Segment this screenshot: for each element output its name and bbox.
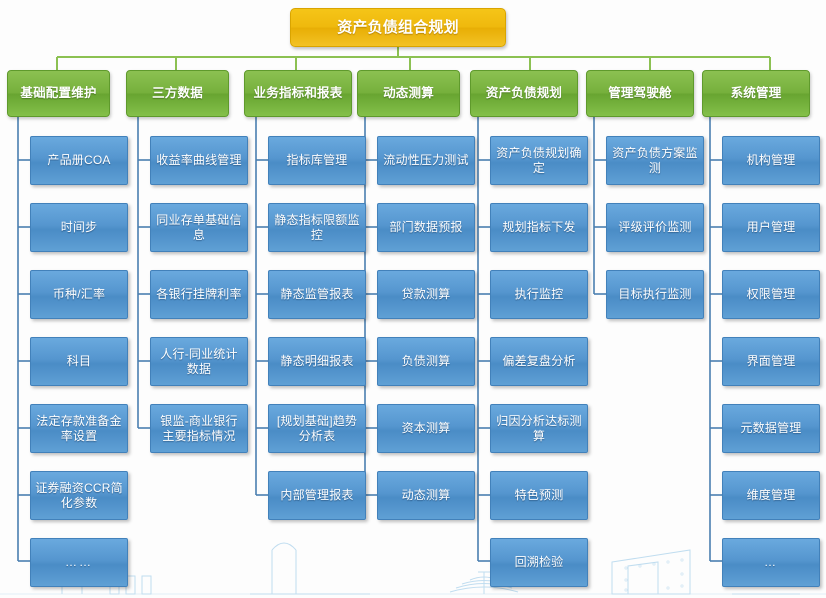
leaf-label: 币种/汇率 — [53, 287, 105, 301]
leaf-c2-r2[interactable]: 同业存单基础信息 — [150, 203, 248, 252]
leaf-c3-r2[interactable]: 静态指标限额监控 — [268, 203, 366, 252]
leaf-label: 法定存款准备金率设置 — [35, 414, 123, 442]
leaf-c5-r4[interactable]: 偏差复盘分析 — [490, 337, 588, 386]
leaf-label: 回溯检验 — [515, 555, 564, 569]
leaf-label: 各银行挂牌利率 — [156, 287, 241, 301]
leaf-c4-r5[interactable]: 资本测算 — [377, 404, 475, 453]
leaf-c5-r1[interactable]: 资产负债规划确定 — [490, 136, 588, 185]
leaf-label: 目标执行监测 — [618, 287, 691, 301]
leaf-label: 静态明细报表 — [280, 354, 353, 368]
leaf-c3-r3[interactable]: 静态监管报表 — [268, 270, 366, 319]
category-header-label: 基础配置维护 — [20, 86, 96, 101]
leaf-c5-r6[interactable]: 特色预测 — [490, 471, 588, 520]
leaf-label: 评级评价监测 — [618, 220, 691, 234]
leaf-c7-r5[interactable]: 元数据管理 — [722, 404, 820, 453]
leaf-label: 用户管理 — [747, 220, 796, 234]
leaf-c2-r5[interactable]: 银监-商业银行主要指标情况 — [150, 404, 248, 453]
leaf-label: 静态指标限额监控 — [273, 213, 361, 241]
leaf-label: 静态监管报表 — [280, 287, 353, 301]
leaf-label: 规划指标下发 — [502, 220, 575, 234]
leaf-label: 资产负债规划确定 — [495, 146, 583, 174]
category-header-7[interactable]: 系统管理 — [702, 70, 810, 117]
leaf-label: 指标库管理 — [286, 153, 347, 167]
leaf-label: 流动性压力测试 — [383, 153, 468, 167]
leaf-c3-r4[interactable]: 静态明细报表 — [268, 337, 366, 386]
category-header-label: 业务指标和报表 — [254, 86, 343, 101]
leaf-c1-r2[interactable]: 时间步 — [30, 203, 128, 252]
leaf-label: 特色预测 — [515, 488, 564, 502]
leaf-label: 银监-商业银行主要指标情况 — [155, 414, 243, 442]
leaf-label: 人行-同业统计数据 — [155, 347, 243, 375]
leaf-label: 产品册COA — [47, 153, 110, 167]
leaf-c3-r6[interactable]: 内部管理报表 — [268, 471, 366, 520]
leaf-label: 同业存单基础信息 — [155, 213, 243, 241]
leaf-label: 归因分析达标测算 — [495, 414, 583, 442]
category-header-label: 系统管理 — [731, 86, 782, 101]
leaf-c6-r3[interactable]: 目标执行监测 — [606, 270, 704, 319]
leaf-c2-r3[interactable]: 各银行挂牌利率 — [150, 270, 248, 319]
root-node[interactable]: 资产负债组合规划 — [290, 8, 506, 47]
leaf-label: 内部管理报表 — [280, 488, 353, 502]
leaf-label: 资产负债方案监测 — [611, 146, 699, 174]
leaf-label: … — [764, 555, 778, 569]
leaf-c7-r7[interactable]: … — [722, 538, 820, 587]
leaf-c5-r7[interactable]: 回溯检验 — [490, 538, 588, 587]
leaf-c1-r4[interactable]: 科目 — [30, 337, 128, 386]
leaf-label: 动态测算 — [402, 488, 451, 502]
leaf-c6-r1[interactable]: 资产负债方案监测 — [606, 136, 704, 185]
leaf-c3-r1[interactable]: 指标库管理 — [268, 136, 366, 185]
leaf-c3-r5[interactable]: [规划基础]趋势分析表 — [268, 404, 366, 453]
leaf-c5-r5[interactable]: 归因分析达标测算 — [490, 404, 588, 453]
leaf-label: 偏差复盘分析 — [502, 354, 575, 368]
leaf-c5-r3[interactable]: 执行监控 — [490, 270, 588, 319]
leaf-c4-r1[interactable]: 流动性压力测试 — [377, 136, 475, 185]
leaf-label: 证券融资CCR简化参数 — [35, 481, 123, 509]
leaf-label: …… — [65, 555, 93, 569]
category-header-6[interactable]: 管理驾驶舱 — [586, 70, 694, 117]
leaf-label: 界面管理 — [747, 354, 796, 368]
leaf-label: [规划基础]趋势分析表 — [273, 414, 361, 442]
leaf-label: 元数据管理 — [740, 421, 801, 435]
leaf-c6-r2[interactable]: 评级评价监测 — [606, 203, 704, 252]
category-header-label: 资产负债规划 — [486, 86, 562, 101]
leaf-label: 收益率曲线管理 — [156, 153, 241, 167]
leaf-label: 时间步 — [61, 220, 98, 234]
leaf-label: 机构管理 — [747, 153, 796, 167]
leaf-c1-r3[interactable]: 币种/汇率 — [30, 270, 128, 319]
leaf-c1-r6[interactable]: 证券融资CCR简化参数 — [30, 471, 128, 520]
leaf-c1-r5[interactable]: 法定存款准备金率设置 — [30, 404, 128, 453]
category-header-label: 管理驾驶舱 — [608, 86, 672, 101]
root-node-label: 资产负债组合规划 — [337, 19, 459, 37]
leaf-c7-r2[interactable]: 用户管理 — [722, 203, 820, 252]
leaf-c4-r6[interactable]: 动态测算 — [377, 471, 475, 520]
leaf-label: 维度管理 — [747, 488, 796, 502]
category-header-2[interactable]: 三方数据 — [126, 70, 229, 117]
leaf-c7-r6[interactable]: 维度管理 — [722, 471, 820, 520]
leaf-label: 部门数据预报 — [389, 220, 462, 234]
category-header-5[interactable]: 资产负债规划 — [470, 70, 578, 117]
leaf-c2-r4[interactable]: 人行-同业统计数据 — [150, 337, 248, 386]
leaf-label: 执行监控 — [515, 287, 564, 301]
leaf-c7-r4[interactable]: 界面管理 — [722, 337, 820, 386]
leaf-c1-r7[interactable]: …… — [30, 538, 128, 587]
leaf-c7-r3[interactable]: 权限管理 — [722, 270, 820, 319]
leaf-c4-r2[interactable]: 部门数据预报 — [377, 203, 475, 252]
category-header-3[interactable]: 业务指标和报表 — [244, 70, 352, 117]
leaf-c4-r3[interactable]: 贷款测算 — [377, 270, 475, 319]
leaf-c7-r1[interactable]: 机构管理 — [722, 136, 820, 185]
leaf-c2-r1[interactable]: 收益率曲线管理 — [150, 136, 248, 185]
leaf-c5-r2[interactable]: 规划指标下发 — [490, 203, 588, 252]
leaf-c4-r4[interactable]: 负债测算 — [377, 337, 475, 386]
category-header-4[interactable]: 动态测算 — [357, 70, 460, 117]
category-header-1[interactable]: 基础配置维护 — [7, 70, 110, 117]
leaf-label: 权限管理 — [747, 287, 796, 301]
leaf-label: 资本测算 — [402, 421, 451, 435]
category-header-label: 三方数据 — [152, 86, 203, 101]
leaf-label: 科目 — [67, 354, 91, 368]
leaf-c1-r1[interactable]: 产品册COA — [30, 136, 128, 185]
leaf-label: 负债测算 — [402, 354, 451, 368]
category-header-label: 动态测算 — [383, 86, 434, 101]
leaf-label: 贷款测算 — [402, 287, 451, 301]
diagram-canvas: 资产负债组合规划 基础配置维护 三方数据 业务指标和报表 动态测算 资产负债规划… — [0, 0, 826, 598]
